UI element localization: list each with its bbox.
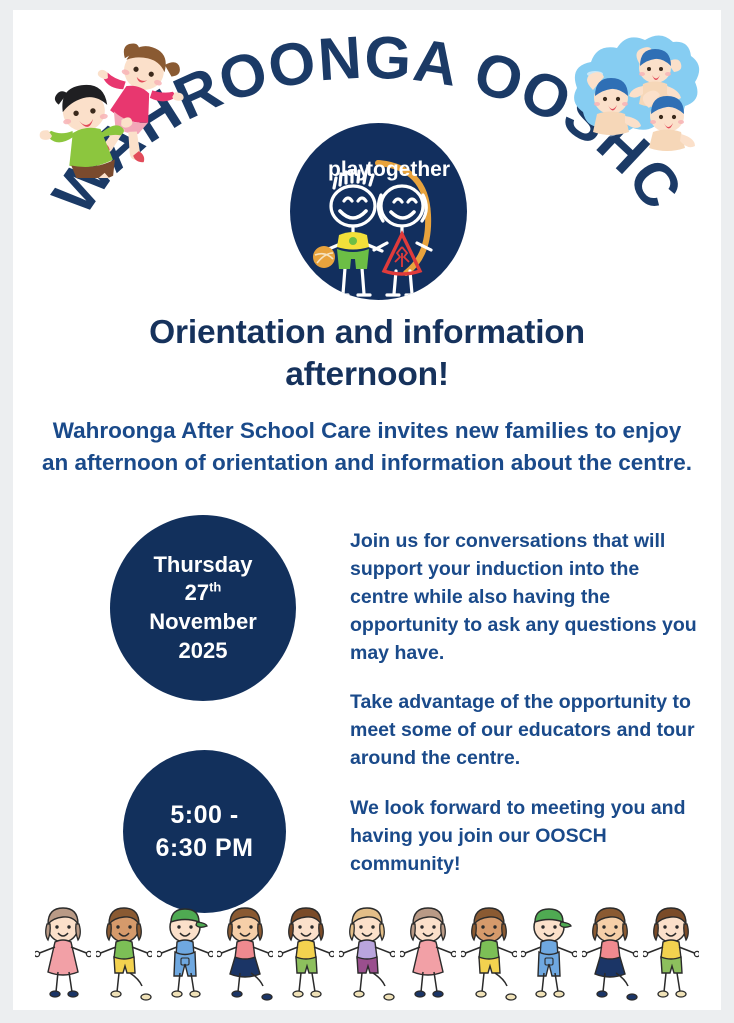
child-figure bbox=[217, 902, 273, 1002]
poster-root: WAHROONGA OOSHC bbox=[0, 0, 734, 1023]
play-together-logo: play together bbox=[290, 123, 467, 300]
date-day-number: 27 bbox=[185, 580, 209, 605]
intro-paragraph: Wahroonga After School Care invites new … bbox=[41, 415, 693, 479]
headline-line-1: Orientation and information bbox=[73, 312, 661, 354]
date-day: 27th bbox=[185, 579, 222, 608]
date-year: 2025 bbox=[179, 637, 228, 666]
logo-word-together: together bbox=[366, 158, 450, 181]
time-line-1: 5:00 - bbox=[170, 799, 238, 832]
child-figure bbox=[461, 902, 517, 1002]
time-badge: 5:00 - 6:30 PM bbox=[123, 750, 286, 913]
swimming-children-icon bbox=[549, 30, 714, 170]
body-copy: Join us for conversations that will supp… bbox=[350, 528, 702, 879]
date-weekday: Thursday bbox=[153, 551, 252, 580]
body-paragraph-2: Take advantage of the opportunity to mee… bbox=[350, 689, 702, 773]
child-figure bbox=[521, 902, 577, 1002]
child-figure bbox=[157, 902, 213, 1002]
child-figure bbox=[643, 902, 699, 1002]
headline-line-2: afternoon! bbox=[73, 354, 661, 396]
child-figure bbox=[96, 902, 152, 1002]
child-figure bbox=[278, 902, 334, 1002]
body-paragraph-3: We look forward to meeting you and havin… bbox=[350, 795, 702, 879]
body-paragraph-1: Join us for conversations that will supp… bbox=[350, 528, 702, 667]
poster-page: WAHROONGA OOSHC bbox=[13, 10, 721, 1010]
jumping-children-icon bbox=[39, 38, 199, 178]
child-figure bbox=[339, 902, 395, 1002]
page-title: Orientation and information afternoon! bbox=[73, 312, 661, 395]
child-figure bbox=[400, 902, 456, 1002]
child-figure bbox=[35, 902, 91, 1002]
children-holding-hands-border bbox=[35, 897, 699, 1002]
child-figure bbox=[582, 902, 638, 1002]
date-month: November bbox=[149, 608, 257, 637]
time-line-2: 6:30 PM bbox=[156, 832, 254, 865]
date-badge: Thursday 27th November 2025 bbox=[110, 515, 296, 701]
date-day-suffix: th bbox=[209, 580, 221, 595]
